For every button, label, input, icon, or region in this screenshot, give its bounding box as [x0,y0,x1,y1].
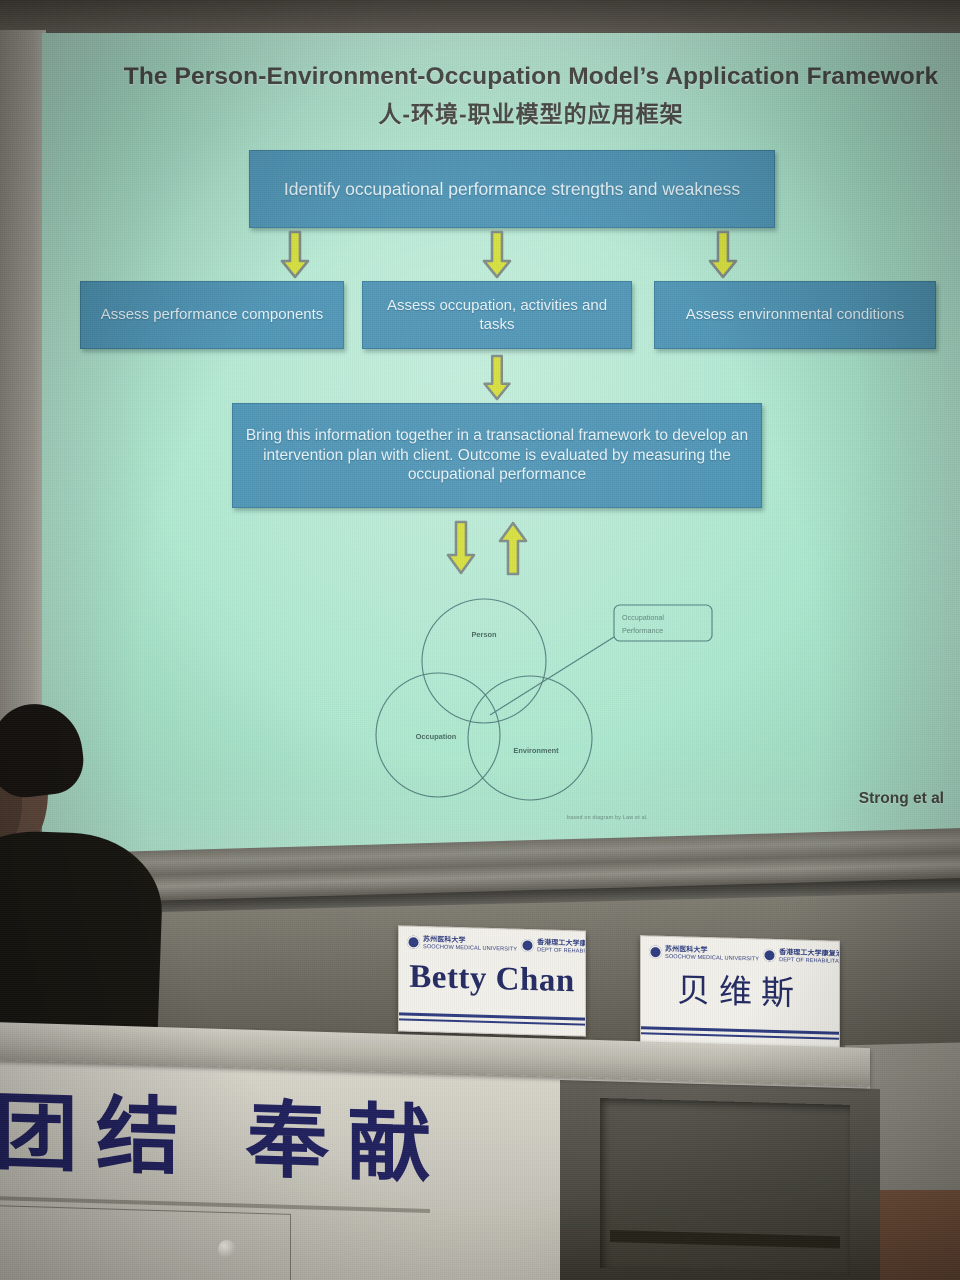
university-logo-left: 苏州医科大学 SOOCHOW MEDICAL UNIVERSITY [407,936,517,953]
podium-banner-text: 团结 奉献 [0,1060,430,1203]
flow-box-identify-text: Identify occupational performance streng… [274,178,750,200]
podium-knob [218,1240,236,1258]
flow-box-assess-performance: Assess performance components [80,281,344,349]
venn-circle-environment [468,676,592,800]
arrow-down-right [708,231,738,279]
arrow-up-from-venn [498,521,528,575]
venn-circle-person [422,599,546,723]
venn-label-person: Person [471,630,497,639]
venn-callout-line2: Performance [622,626,663,635]
arrow-down-left [280,231,310,279]
flow-box-assess-environment-text: Assess environmental conditions [676,305,914,324]
flow-box-assess-performance-text: Assess performance components [91,305,334,324]
flow-box-synthesis-text: Bring this information together in a tra… [233,426,761,485]
placard-stripes [641,1026,839,1044]
flow-box-assess-occupation-text: Assess occupation, activities and tasks [363,296,631,334]
slide-title-english: The Person-Environment-Occupation Model’… [106,63,956,91]
arrow-down-to-venn [446,521,476,575]
name-placard-betty-chan: 苏州医科大学 SOOCHOW MEDICAL UNIVERSITY 香港理工大学… [398,925,586,1036]
flow-box-assess-occupation: Assess occupation, activities and tasks [362,281,632,349]
arrow-down-to-synthesis [482,355,512,401]
venn-source-caption: based on diagram by Law et al. [567,815,767,821]
name-placard-chinese: 苏州医科大学 SOOCHOW MEDICAL UNIVERSITY 香港理工大学… [640,935,840,1051]
placard-name-text: Betty Chan [399,952,585,1005]
venn-callout-leader [490,637,614,715]
peo-venn-diagram: Person Occupation Environment Occupation… [372,593,792,833]
university-logo-left: 苏州医科大学 SOOCHOW MEDICAL UNIVERSITY [649,945,759,962]
partner-seal-icon [521,939,534,952]
classroom-photo-scene: The Person-Environment-Occupation Model’… [0,0,960,1280]
university-logo-right: 香港理工大学康复治疗科系 DEPT OF REHABILITATION SCIE… [521,939,586,956]
placard-logo-left-sub: SOOCHOW MEDICAL UNIVERSITY [665,954,759,963]
venn-callout-line1: Occupational [622,613,664,622]
flow-box-synthesis: Bring this information together in a tra… [232,403,762,508]
placard-stripes [399,1012,585,1029]
slide-title-chinese: 人-环境-职业模型的应用框架 [106,95,956,129]
placard-logo-right-sub: DEPT OF REHABILITATION SCIENCES [779,957,840,966]
flow-box-assess-environment: Assess environmental conditions [654,281,936,349]
placard-name-text: 贝维斯 [641,962,839,1016]
university-seal-icon [407,936,420,949]
placard-logo-left-sub: SOOCHOW MEDICAL UNIVERSITY [423,944,517,953]
slide-attribution: Strong et al [859,790,944,808]
flow-box-identify: Identify occupational performance streng… [249,150,775,228]
university-logo-right: 香港理工大学康复治疗科系 DEPT OF REHABILITATION SCIE… [763,949,840,966]
placard-logo-right-sub: DEPT OF REHABILITATION SCIENCES [537,947,586,956]
partner-seal-icon [763,949,776,962]
left-wall [0,30,46,790]
podium-recess-inner [600,1098,850,1275]
university-seal-icon [649,946,662,959]
venn-label-environment: Environment [513,746,559,755]
venn-label-occupation: Occupation [416,732,457,741]
podium-left-panel [0,1205,291,1280]
arrow-down-middle [482,231,512,279]
venn-callout-box [614,605,712,641]
presenter-hair [0,699,87,802]
projection-screen: The Person-Environment-Occupation Model’… [42,33,960,863]
